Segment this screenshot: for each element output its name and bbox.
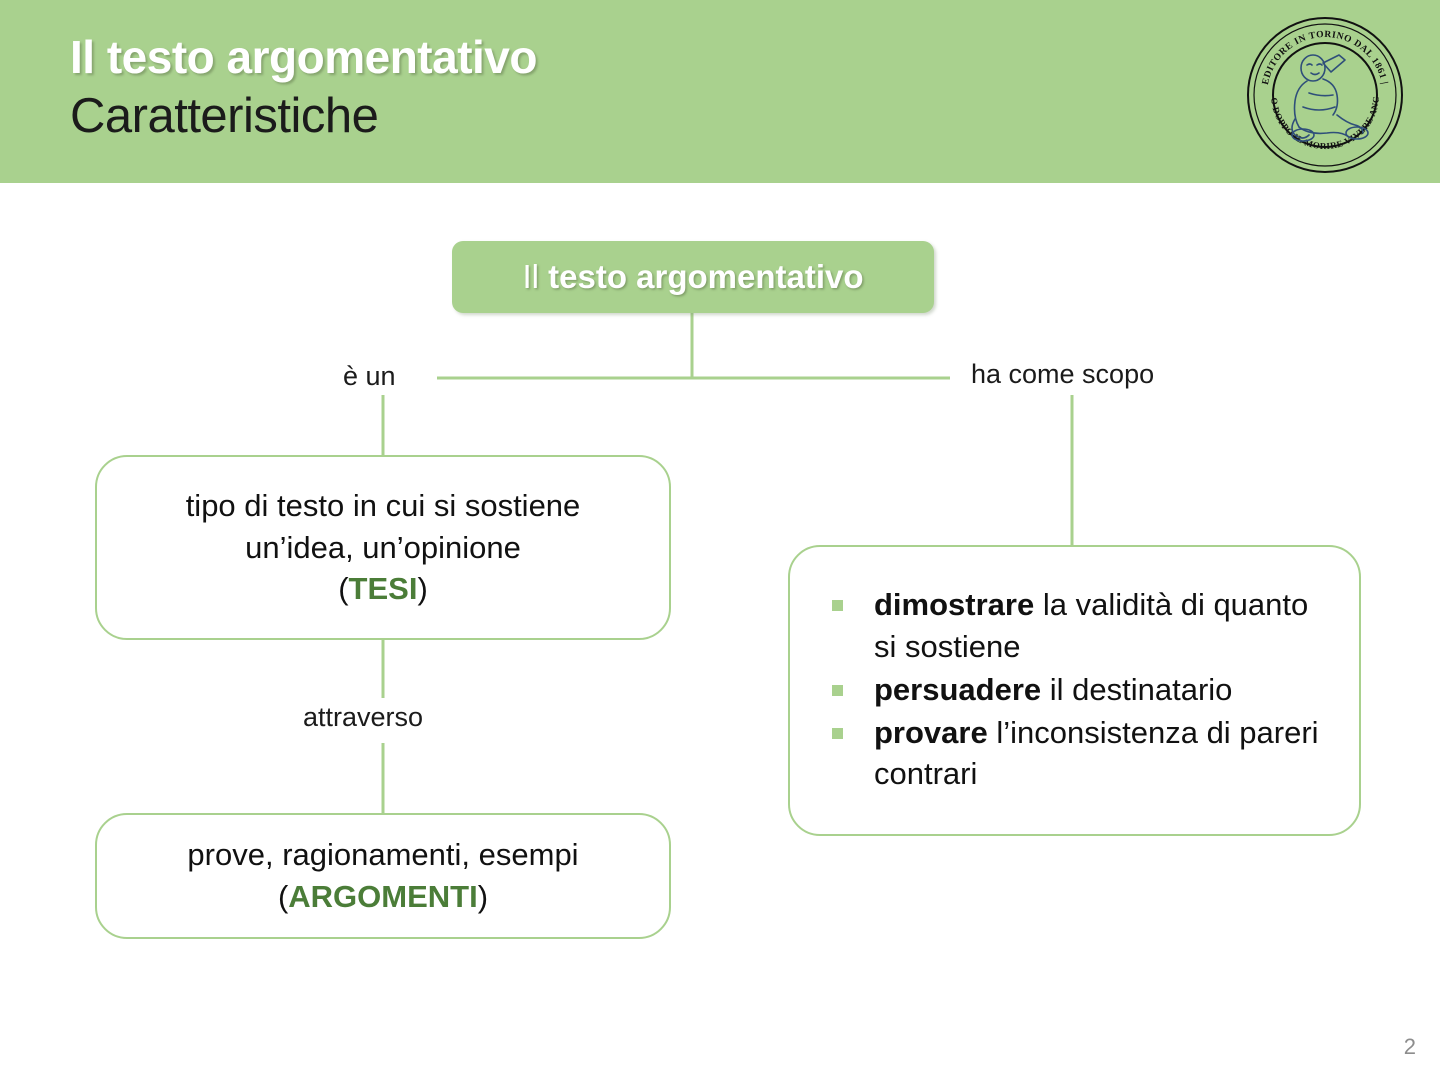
node-box-scopi[interactable]: dimostrare la validità di quanto si sost… [788,545,1361,836]
scopi-item-rest: il destinatario [1041,672,1232,707]
root-label-light: Il [522,258,548,295]
node-argomenti-keyword: ARGOMENTI [288,879,477,914]
scopi-item-lead: dimostrare [874,587,1034,622]
node-box-argomenti[interactable]: prove, ragionamenti, esempi (ARGOMENTI) [95,813,671,939]
edge-label-e-un: è un [343,361,396,392]
list-item: dimostrare la validità di quanto si sost… [818,584,1338,666]
node-argomenti-paren-close: ) [478,879,488,914]
root-label-bold: testo argomentativo [548,258,863,295]
publisher-seal-logo: EDITORE IN TORINO DAL 1861 | E BELLO DOP… [1245,15,1405,175]
slide-number: 2 [1404,1034,1416,1060]
node-argomenti-line1: prove, ragionamenti, esempi [187,837,578,872]
scopi-bullet-list: dimostrare la validità di quanto si sost… [818,584,1338,796]
bullet-square-icon [832,685,843,696]
node-tesi-paren-close: ) [417,571,427,606]
svg-text:EDITORE IN TORINO DAL 1861 |: EDITORE IN TORINO DAL 1861 | [1261,30,1389,86]
edge-label-attraverso: attraverso [303,702,423,733]
scopi-item-lead: persuadere [874,672,1041,707]
bullet-square-icon [832,728,843,739]
list-item: provare l’inconsistenza di pareri contra… [818,712,1338,794]
page-subtitle: Caratteristiche [70,92,537,141]
node-box-tesi[interactable]: tipo di testo in cui si sostiene un’idea… [95,455,671,640]
node-argomenti-paren-open: ( [278,879,288,914]
edge-label-ha-come-scopo: ha come scopo [971,359,1154,390]
scopi-item-lead: provare [874,715,988,750]
header-title-group: Il testo argomentativo Caratteristiche [70,34,537,141]
node-tesi-paren-open: ( [338,571,348,606]
node-tesi-keyword: TESI [349,571,418,606]
page-title: Il testo argomentativo [70,34,537,80]
list-item: persuadere il destinatario [818,669,1338,710]
node-tesi-line1: tipo di testo in cui si sostiene [186,488,581,523]
publisher-seal-icon: EDITORE IN TORINO DAL 1861 | E BELLO DOP… [1245,15,1405,175]
bullet-square-icon [832,600,843,611]
slide-header-band: Il testo argomentativo Caratteristiche E… [0,0,1440,183]
node-tesi-text: tipo di testo in cui si sostiene un’idea… [186,485,581,610]
root-node-label: Il testo argomentativo [522,258,863,296]
diagram-root-node[interactable]: Il testo argomentativo [452,241,934,313]
diagram-canvas: Il testo argomentativo è un ha come scop… [0,183,1440,1080]
node-argomenti-text: prove, ragionamenti, esempi (ARGOMENTI) [187,834,578,917]
node-tesi-line2: un’idea, un’opinione [245,530,521,565]
